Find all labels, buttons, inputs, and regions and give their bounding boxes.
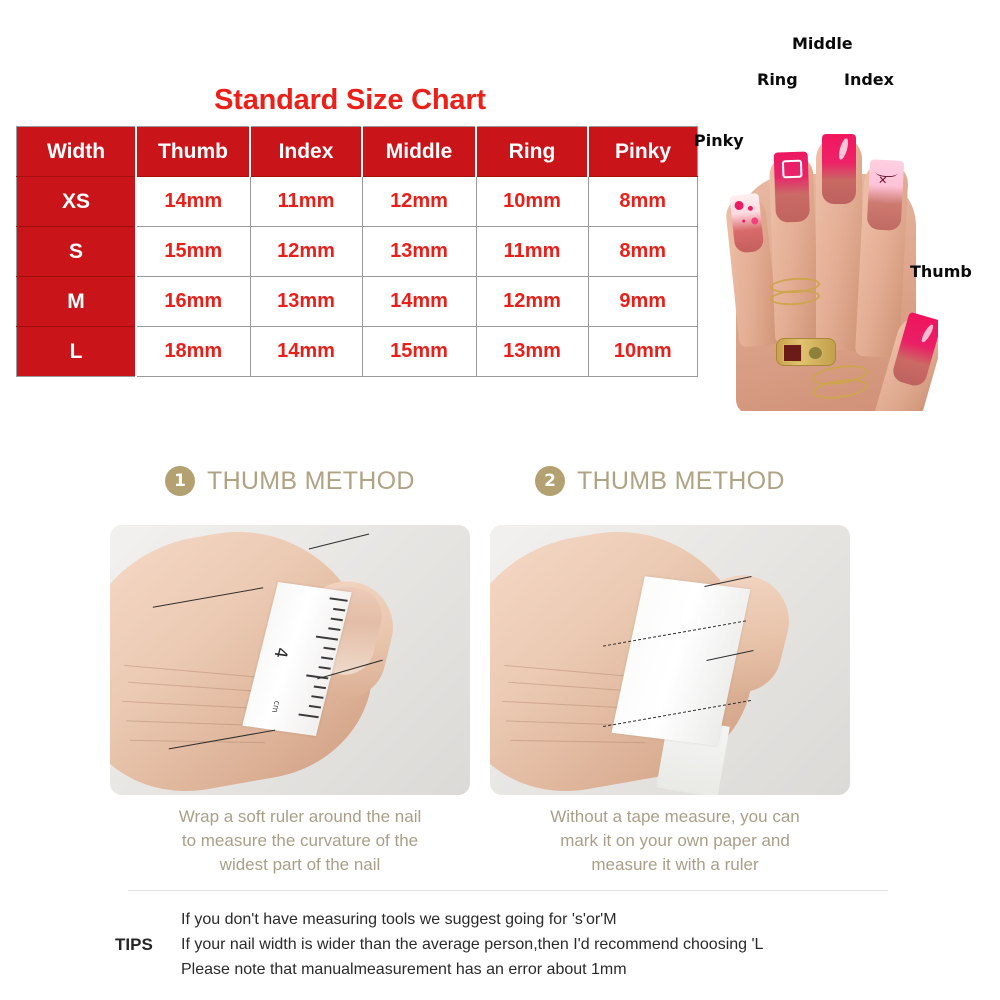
cell-xs-thumb: 14mm: [136, 177, 250, 227]
cell-m-pinky: 9mm: [588, 277, 698, 327]
table-row: M 16mm 13mm 14mm 12mm 9mm: [17, 277, 698, 327]
hand-illustration: [690, 18, 990, 410]
method-2-number-badge: 2: [535, 466, 565, 496]
table-row: L 18mm 14mm 15mm 13mm 10mm: [17, 327, 698, 377]
caption-line: Wrap a soft ruler around the nail: [110, 805, 490, 829]
cell-s-middle: 13mm: [362, 227, 476, 277]
tips-divider: [128, 890, 888, 891]
row-label-l: L: [17, 327, 137, 377]
tip-line: Please note that manualmeasurement has a…: [181, 960, 763, 979]
ruler-unit-label: cm: [270, 700, 282, 713]
standard-size-table: Width Thumb Index Middle Ring Pinky XS 1…: [16, 126, 698, 377]
cell-l-thumb: 18mm: [136, 327, 250, 377]
cell-xs-index: 11mm: [250, 177, 362, 227]
hand-label-ring: Ring: [757, 70, 798, 89]
nail-pinky: [730, 193, 765, 254]
row-label-s: S: [17, 227, 137, 277]
table-header-row: Width Thumb Index Middle Ring Pinky: [17, 127, 698, 177]
method-1-title: THUMB METHOD: [207, 467, 415, 496]
column-header-middle: Middle: [362, 127, 476, 177]
method-2-photo: [490, 525, 850, 795]
cell-xs-pinky: 8mm: [588, 177, 698, 227]
tip-line: If your nail width is wider than the ave…: [181, 935, 763, 954]
caption-line: measure it with a ruler: [485, 853, 865, 877]
finger-middle: [816, 136, 862, 351]
cell-m-index: 13mm: [250, 277, 362, 327]
row-label-m: M: [17, 277, 137, 327]
cell-l-index: 14mm: [250, 327, 362, 377]
cell-s-index: 12mm: [250, 227, 362, 277]
caption-line: Without a tape measure, you can: [485, 805, 865, 829]
column-header-width: Width: [17, 127, 137, 177]
cell-s-thumb: 15mm: [136, 227, 250, 277]
ring-jewelry-gemstone: [776, 338, 836, 366]
tips-section: TIPS If you don't have measuring tools w…: [115, 910, 905, 980]
cell-s-ring: 11mm: [476, 227, 588, 277]
tip-line: If you don't have measuring tools we sug…: [181, 910, 763, 929]
finger-ring: [769, 153, 820, 344]
hand-label-thumb: Thumb: [910, 262, 972, 281]
caption-line: mark it on your own paper and: [485, 829, 865, 853]
cell-xs-middle: 12mm: [362, 177, 476, 227]
caption-line: to measure the curvature of the: [110, 829, 490, 853]
method-2-header: 2 THUMB METHOD: [535, 466, 785, 496]
size-chart-section: Standard Size Chart Width Thumb Index Mi…: [0, 0, 1000, 420]
caption-line: widest part of the nail: [110, 853, 490, 877]
ruler-number: 4: [269, 646, 292, 659]
hand-label-pinky: Pinky: [694, 131, 744, 150]
method-1-number-badge: 1: [165, 466, 195, 496]
cell-m-ring: 12mm: [476, 277, 588, 327]
column-header-pinky: Pinky: [588, 127, 698, 177]
measuring-methods-section: 1 THUMB METHOD: [0, 420, 1000, 1000]
cell-s-pinky: 8mm: [588, 227, 698, 277]
hand-photo: [708, 66, 938, 411]
method-1-caption: Wrap a soft ruler around the nail to mea…: [110, 805, 490, 877]
cell-m-thumb: 16mm: [136, 277, 250, 327]
method-2-caption: Without a tape measure, you can mark it …: [485, 805, 865, 877]
column-header-thumb: Thumb: [136, 127, 250, 177]
cell-l-ring: 13mm: [476, 327, 588, 377]
nail-index: [867, 159, 905, 231]
table-row: S 15mm 12mm 13mm 11mm 8mm: [17, 227, 698, 277]
cell-l-pinky: 10mm: [588, 327, 698, 377]
row-label-xs: XS: [17, 177, 137, 227]
method-2-title: THUMB METHOD: [577, 467, 785, 496]
nail-middle: [822, 134, 856, 204]
tips-label: TIPS: [115, 935, 167, 955]
tips-lines: If you don't have measuring tools we sug…: [181, 910, 763, 980]
page-title: Standard Size Chart: [14, 84, 686, 117]
method-1-header: 1 THUMB METHOD: [165, 466, 415, 496]
cell-l-middle: 15mm: [362, 327, 476, 377]
hand-label-middle: Middle: [792, 34, 853, 53]
table-row: XS 14mm 11mm 12mm 10mm 8mm: [17, 177, 698, 227]
hand-label-index: Index: [844, 70, 894, 89]
column-header-index: Index: [250, 127, 362, 177]
column-header-ring: Ring: [476, 127, 588, 177]
method-1-photo: 4 cm: [110, 525, 470, 795]
cell-xs-ring: 10mm: [476, 177, 588, 227]
nail-ring: [774, 151, 810, 222]
cell-m-middle: 14mm: [362, 277, 476, 327]
